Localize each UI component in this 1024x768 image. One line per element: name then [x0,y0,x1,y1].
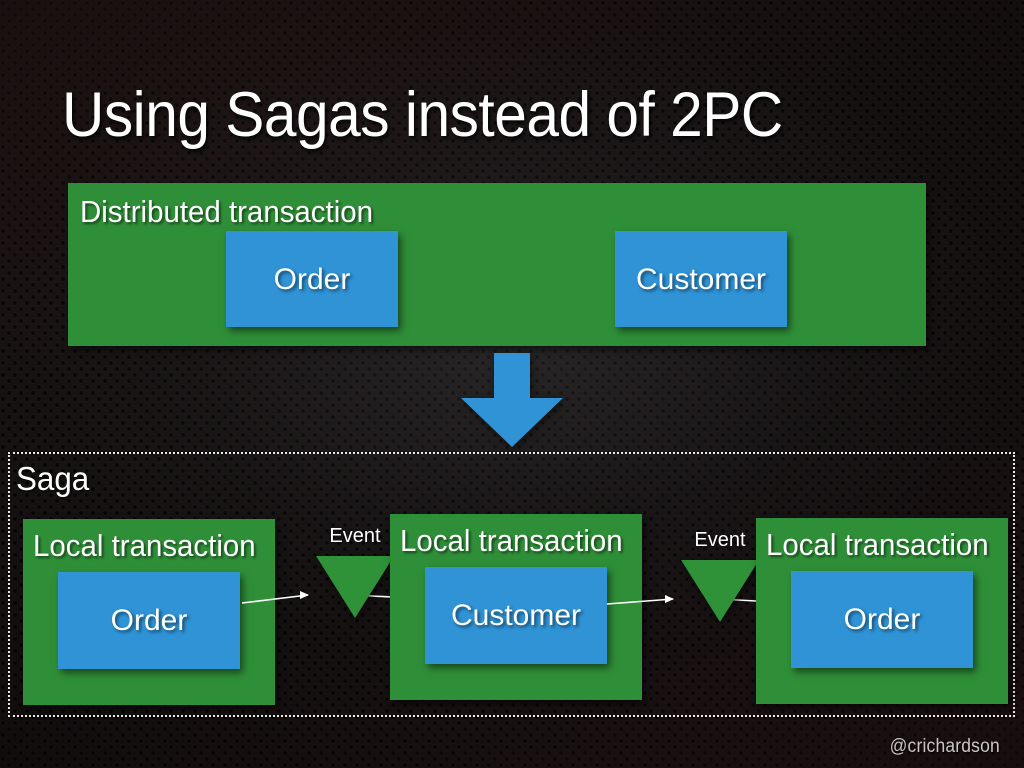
service-box-order: Order [791,571,973,668]
distributed-transaction-title: Distributed transaction [80,196,373,227]
local-transaction-title: Local transaction [33,530,256,561]
local-transaction-box-1: Local transaction Order [23,519,275,705]
page-title: Using Sagas instead of 2PC [62,84,899,147]
service-label: Customer [615,265,787,295]
slide-canvas: Using Sagas instead of 2PC Distributed t… [0,0,1024,768]
service-box-customer: Customer [615,231,787,327]
service-label: Customer [425,601,607,631]
saga-title: Saga [16,462,89,495]
triangle-down-icon [681,560,759,622]
service-box-order: Order [58,572,240,669]
local-transaction-box-2: Local transaction Customer [390,514,642,700]
service-label: Order [791,605,973,635]
author-watermark: @crichardson [890,737,1000,756]
local-transaction-title: Local transaction [400,525,623,556]
service-label: Order [226,265,398,295]
local-transaction-title: Local transaction [766,529,989,560]
arrow-down-icon [461,353,563,447]
service-box-order: Order [226,231,398,327]
distributed-transaction-box: Distributed transaction Order Customer [68,183,926,346]
service-label: Order [58,606,240,636]
service-box-customer: Customer [425,567,607,664]
triangle-down-icon [316,556,394,618]
local-transaction-box-3: Local transaction Order [756,518,1008,704]
